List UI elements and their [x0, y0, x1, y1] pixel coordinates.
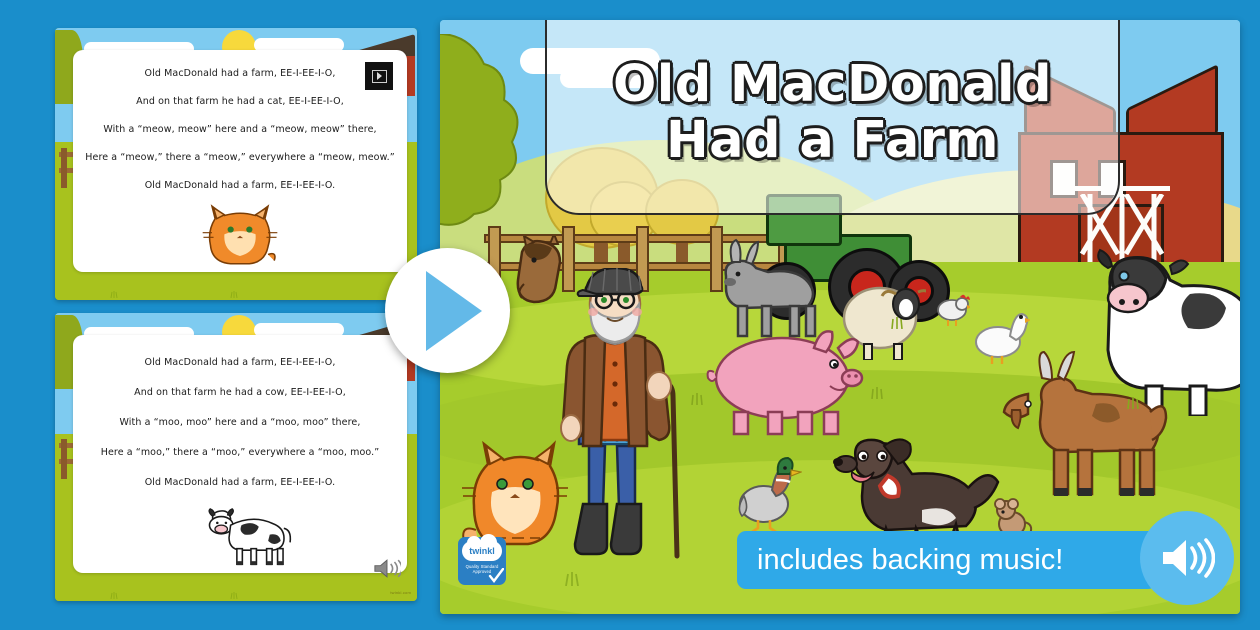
- twinkl-quality-badge: twinkl Quality Standard Approved: [458, 537, 506, 585]
- grass-tuft: [230, 586, 237, 593]
- grass-tuft: [110, 586, 117, 593]
- music-banner-label: includes backing music!: [737, 544, 1063, 577]
- duck-illustration: [736, 456, 802, 538]
- grass-tuft: [890, 316, 904, 334]
- speaker-volume-icon[interactable]: [1140, 511, 1234, 605]
- cow-illustration: [184, 497, 296, 569]
- donkey-illustration: [708, 238, 822, 338]
- grass-tuft: [1126, 396, 1140, 414]
- hen-illustration: [932, 292, 970, 326]
- grass-tuft: [110, 285, 117, 292]
- play-triangle-icon: [426, 271, 482, 351]
- pig-illustration: [706, 326, 864, 436]
- grass-tuft: [870, 386, 884, 404]
- goat-illustration: [992, 350, 1172, 500]
- lyric-line: Old MacDonald had a farm, EE-I-EE-I-O.: [83, 180, 397, 191]
- check-mark-icon: [488, 568, 504, 584]
- main-slide-title-screen[interactable]: Old MacDonald Had a Farm: [440, 20, 1240, 614]
- grass-tuft: [230, 285, 237, 292]
- lyrics-card: Old MacDonald had a farm, EE-I-EE-I-O, A…: [73, 50, 407, 272]
- lyric-line: Old MacDonald had a farm, EE-I-EE-I-O,: [83, 68, 397, 79]
- lyric-line: Here a “moo,” there a “moo,” everywhere …: [83, 447, 397, 458]
- lyric-line: And on that farm he had a cat, EE-I-EE-I…: [83, 96, 397, 107]
- twinkl-wordmark: twinkl: [469, 546, 495, 556]
- lyric-line: Here a “meow,” there a “meow,” everywher…: [83, 152, 397, 163]
- lyric-line: Old MacDonald had a farm, EE-I-EE-I-O.: [83, 477, 397, 488]
- title-line-2: Had a Farm: [666, 114, 999, 168]
- lyric-line: And on that farm he had a cow, EE-I-EE-I…: [83, 387, 397, 398]
- farmer-illustration: [555, 268, 705, 568]
- video-play-icon[interactable]: [365, 62, 393, 90]
- slide-thumbnail-cat[interactable]: Old MacDonald had a farm, EE-I-EE-I-O, A…: [55, 28, 417, 300]
- includes-backing-music-banner[interactable]: includes backing music!: [737, 531, 1157, 589]
- cloud-icon: twinkl: [462, 541, 502, 561]
- title-panel: Old MacDonald Had a Farm: [545, 20, 1120, 215]
- grass-tuft: [564, 572, 580, 591]
- lyric-line: With a “meow, meow” here and a “meow, me…: [83, 124, 397, 135]
- lyric-line: Old MacDonald had a farm, EE-I-EE-I-O,: [83, 357, 397, 368]
- lyrics-card: Old MacDonald had a farm, EE-I-EE-I-O, A…: [73, 335, 407, 573]
- cat-illustration: [199, 200, 281, 270]
- lyric-line: With a “moo, moo” here and a “moo, moo” …: [83, 417, 397, 428]
- screenshot-canvas: Old MacDonald had a farm, EE-I-EE-I-O, A…: [0, 0, 1260, 630]
- title-line-1: Old MacDonald: [613, 58, 1052, 112]
- site-url: twinkl.com: [390, 590, 411, 595]
- slide-thumbnail-cow[interactable]: Old MacDonald had a farm, EE-I-EE-I-O, A…: [55, 313, 417, 601]
- speaker-icon[interactable]: [373, 557, 399, 579]
- play-button[interactable]: [385, 248, 510, 373]
- grass-tuft: [690, 392, 704, 410]
